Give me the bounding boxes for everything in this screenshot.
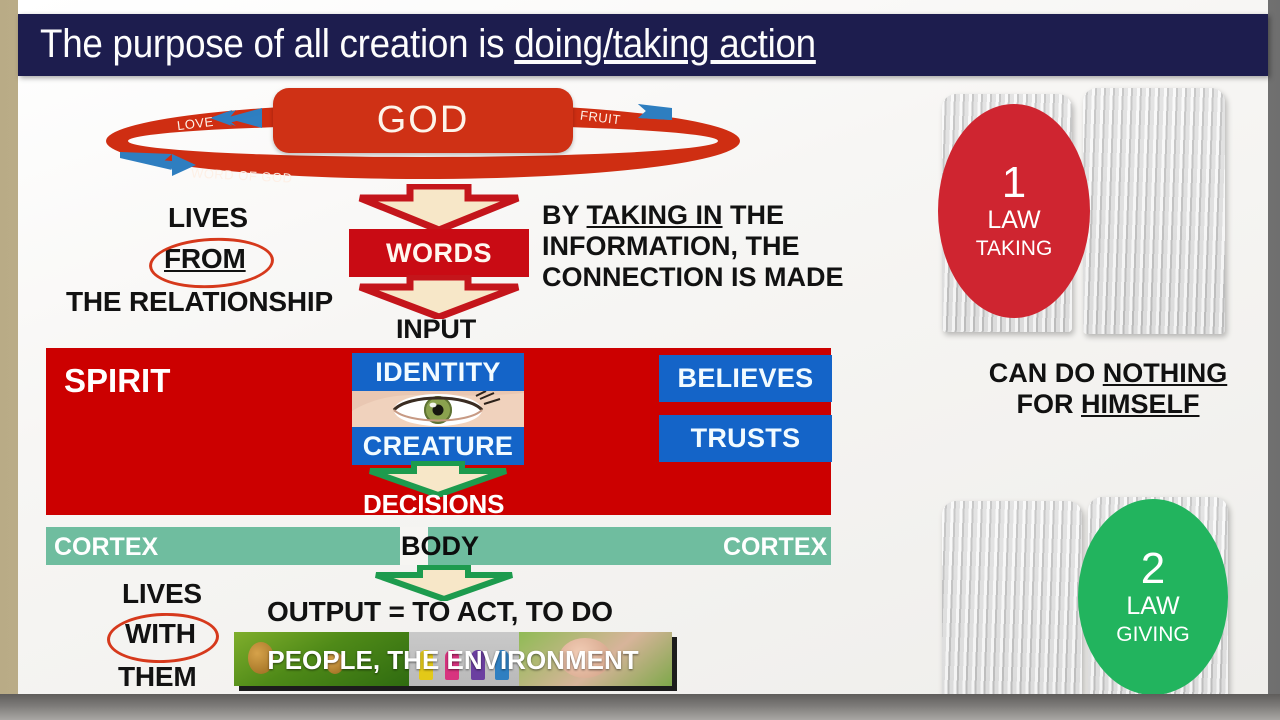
creature-box: CREATURE: [352, 427, 524, 465]
lives-from-line1: LIVES: [168, 202, 248, 234]
arrow-god-to-words: [354, 184, 524, 232]
words-box: WORDS: [349, 229, 529, 277]
slide-title: The purpose of all creation is doing/tak…: [40, 22, 816, 67]
photo-strip-caption: PEOPLE, THE ENVIRONMENT: [234, 645, 672, 676]
cortex-label-right: CORTEX: [723, 533, 827, 562]
law-badge-one-mode: TAKING: [976, 236, 1053, 261]
law-badge-one-law: LAW: [987, 205, 1040, 236]
nothing-underline: NOTHING: [1103, 358, 1228, 388]
eye-photo: [352, 391, 524, 427]
god-box: GOD: [273, 88, 573, 153]
tablet-right-1: [1083, 88, 1225, 334]
identity-box: IDENTITY: [352, 353, 524, 391]
law-badge-two-mode: GIVING: [1116, 622, 1190, 647]
slide-title-prefix: The purpose of all creation is: [40, 22, 514, 66]
believes-box: BELIEVES: [659, 355, 832, 402]
taking-in-underline: TAKING IN: [587, 200, 723, 230]
output-label: OUTPUT = TO ACT, TO DO: [267, 596, 613, 628]
law-badge-two-law: LAW: [1126, 591, 1179, 622]
tablet-left-2: [942, 501, 1082, 695]
trusts-box: TRUSTS: [659, 415, 832, 462]
himself-underline: HIMSELF: [1081, 389, 1200, 419]
slide-title-bar: The purpose of all creation is doing/tak…: [18, 14, 1268, 76]
cortex-label-left: CORTEX: [54, 533, 158, 562]
law-badge-one: 1 LAW TAKING: [938, 104, 1090, 318]
input-label: INPUT: [396, 314, 476, 345]
words-label: WORDS: [349, 229, 529, 277]
decisions-label: DECISIONS: [363, 489, 504, 520]
god-label: GOD: [273, 88, 573, 153]
arrow-words-to-input: [354, 275, 524, 319]
the-relationship-label: THE RELATIONSHIP: [66, 286, 333, 318]
them-label: THEM: [118, 661, 197, 693]
law-badge-two-number: 2: [1141, 547, 1165, 591]
can-do-nothing-text: CAN DO NOTHINGFOR HIMSELF: [938, 358, 1268, 420]
lives-with-line1: LIVES: [122, 578, 202, 610]
spirit-label: SPIRIT: [64, 362, 170, 400]
red-circle-around-with: [106, 611, 220, 665]
law-badge-two: 2 LAW GIVING: [1078, 499, 1228, 695]
law-badge-one-number: 1: [1002, 161, 1026, 205]
slide-frame: GOD LOVE FRUIT WORD OF GOD LIVES FROM TH…: [0, 0, 1280, 720]
body-label: BODY: [400, 531, 480, 562]
slide-title-underlined: doing/taking action: [514, 22, 816, 66]
bottom-shadow-band: [0, 694, 1280, 720]
word-of-god-arrow-icon: [116, 150, 202, 186]
taking-in-information-text: BY TAKING IN THE INFORMATION, THE CONNEC…: [542, 200, 892, 292]
slide-canvas: GOD LOVE FRUIT WORD OF GOD LIVES FROM TH…: [18, 0, 1268, 695]
